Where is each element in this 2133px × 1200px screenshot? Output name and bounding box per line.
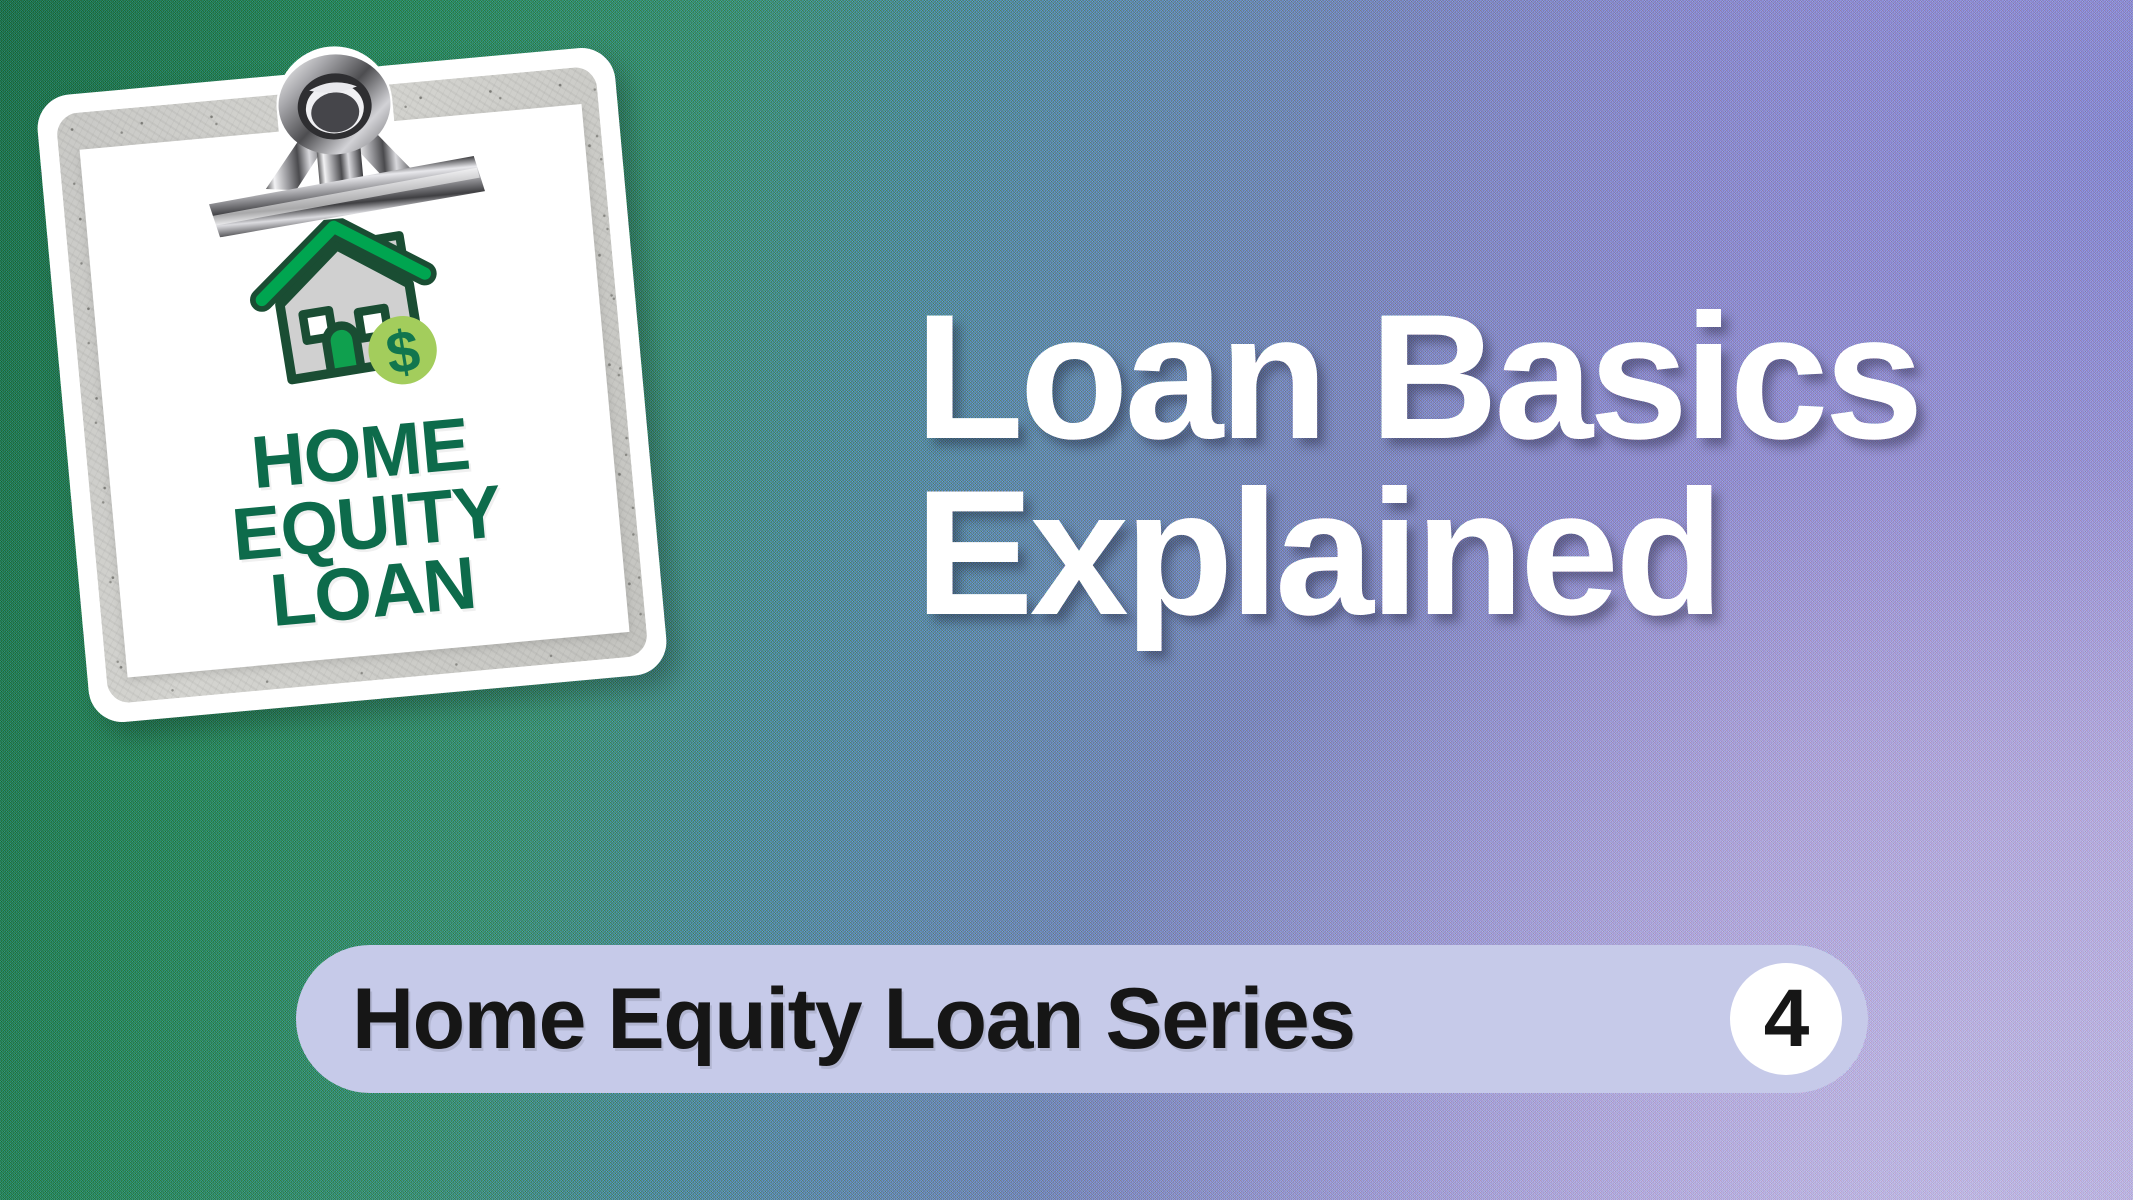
headline-line-2: Explained [915, 468, 2095, 638]
series-banner: Home Equity Loan Series 4 [296, 945, 1868, 1093]
metal-bulldog-clip [179, 23, 495, 239]
series-number-badge: 4 [1730, 963, 1842, 1075]
clipboard-graphic: $ HOME EQUITY LOAN [35, 45, 670, 725]
series-number-badge-value: 4 [1764, 978, 1809, 1060]
paper-title-line-3: LOAN [235, 545, 510, 639]
series-banner-label: Home Equity Loan Series [352, 976, 1716, 1062]
thumbnail-canvas: $ HOME EQUITY LOAN [0, 0, 2133, 1200]
paper-title: HOME EQUITY LOAN [223, 406, 510, 638]
headline-line-1: Loan Basics [915, 292, 2095, 462]
house-with-dollar-coin-icon: $ [239, 209, 455, 411]
paper-content: $ HOME EQUITY LOAN [88, 196, 627, 650]
headline: Loan Basics Explained [915, 292, 2095, 638]
